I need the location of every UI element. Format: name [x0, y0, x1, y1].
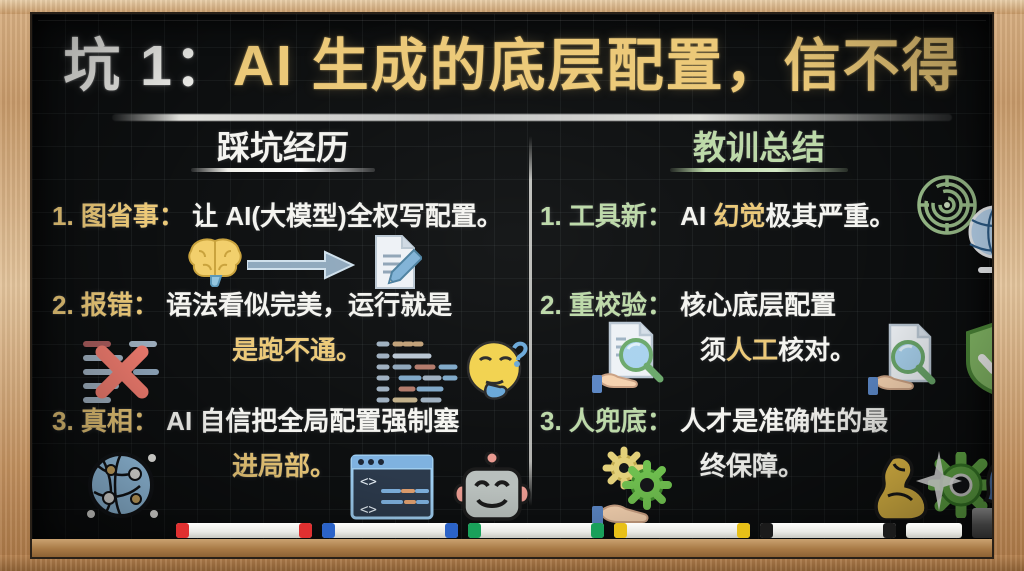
chalk-tray-shelf: [32, 539, 992, 557]
chalk-stick-green[interactable]: [468, 523, 604, 538]
frame-bevel-bottom: [0, 555, 1024, 571]
eraser[interactable]: [972, 508, 992, 538]
frame-bevel-top: [0, 0, 1024, 14]
chalk-stick-black[interactable]: [760, 523, 896, 538]
chalk-stick-yellow[interactable]: [614, 523, 750, 538]
board-vignette: [32, 14, 992, 557]
blackboard: 坑 1：AI 生成的底层配置，信不得 踩坑经历 1. 图省事： 让 AI(大模型…: [32, 14, 992, 557]
chalk-stick-white[interactable]: [906, 523, 962, 538]
chalk-stick-red[interactable]: [176, 523, 312, 538]
chalk-stick-blue[interactable]: [322, 523, 458, 538]
